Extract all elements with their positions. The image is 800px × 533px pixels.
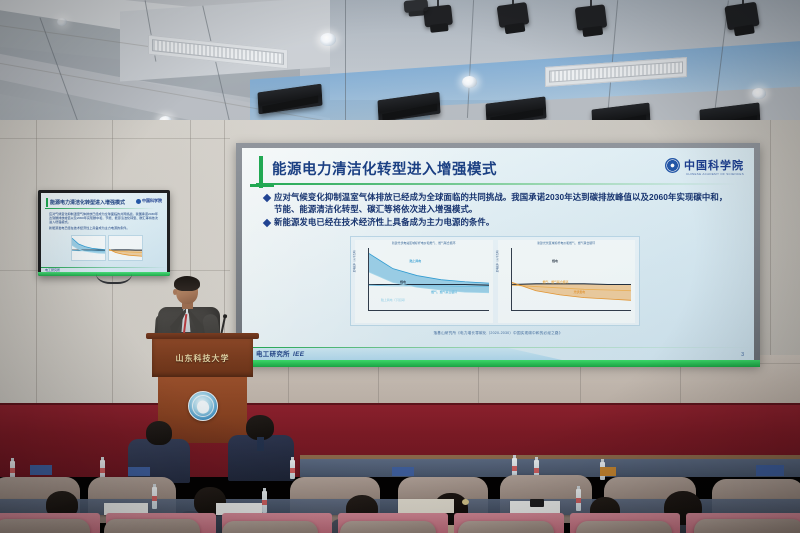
stage-light <box>724 2 759 31</box>
chair[interactable] <box>0 519 90 533</box>
chair[interactable] <box>458 521 554 533</box>
cas-logo-subtext: CHINESE ACADEMY OF SCIENCES <box>686 172 744 176</box>
bottle-label <box>534 468 539 473</box>
bullet-text: 新能源发电已经在技术经济性上具备成为主力电源的条件。 <box>274 217 494 229</box>
person-tie <box>257 437 264 451</box>
bullet-text: 应对气候变化抑制温室气体排放已经成为全球面临的共同挑战。我国承诺2030年达到碳… <box>274 192 734 216</box>
chart-title: 新建光伏电站区域标杆电价和燃气、燃气联合循环 <box>355 241 493 245</box>
stage-light <box>497 2 530 28</box>
chair[interactable] <box>576 521 672 533</box>
person-head <box>146 421 172 445</box>
folder <box>128 467 150 476</box>
folder <box>30 465 52 475</box>
folder <box>756 465 784 476</box>
bottle-label <box>10 468 15 473</box>
monitor-bullet: 新能源发电已经在技术经济性上具备成为主力电源的条件。 <box>49 226 161 230</box>
slide-source-line: 落基山研究所《电力增长零碳化（2020-2030）中国实现碳中和的必经之路》 <box>242 331 754 336</box>
audience-area <box>0 415 800 533</box>
phone <box>530 499 544 507</box>
bullet-diamond-icon <box>263 194 271 202</box>
bottle-label <box>512 466 517 471</box>
bullet-item: 应对气候变化抑制温室气体排放已经成为全球面临的共同挑战。我国承诺2030年达到碳… <box>264 192 734 216</box>
notepad <box>398 499 454 513</box>
slide-footer-org: 电工研究所 <box>256 351 290 358</box>
stage-light <box>404 0 429 13</box>
monitor-bullet: 应对气候变化抑制温室气体排放已经成为全球面临的共同挑战。我国承诺2030年达到碳… <box>49 212 161 225</box>
bottle-label <box>152 496 157 501</box>
stage-light <box>575 4 608 30</box>
water-bottle <box>152 487 157 509</box>
chart-series-label: 燃气、燃气联合循环 <box>543 280 569 284</box>
chart-wind-cost: 新建光伏电站区域标杆电价和燃气、燃气联合循环 度电成本（元/千瓦时） 0.90.… <box>355 240 493 323</box>
cas-logo-text: 中国科学院 <box>684 157 744 173</box>
bottle-label <box>290 468 295 473</box>
chart-series-label: 光伏发电 <box>574 290 586 294</box>
monitor-charts <box>71 235 143 261</box>
water-bottle <box>262 491 267 513</box>
podium-front: 山东科技大学 <box>152 339 253 377</box>
chart-panel: 新建光伏电站区域标杆电价和燃气、燃气联合循环 度电成本（元/千瓦时） 0.90.… <box>350 236 640 326</box>
slide-page-number: 3 <box>741 352 744 358</box>
downlight <box>462 76 477 88</box>
chart-title: 新建光伏区域标杆电价和燃气、燃气联合循环 <box>498 241 636 245</box>
chair[interactable] <box>694 519 800 533</box>
title-underline <box>256 183 736 185</box>
presenter-ear <box>173 289 177 295</box>
downlight <box>320 33 336 46</box>
monitor-title: 能源电力清洁化转型进入增强模式 <box>50 199 125 206</box>
desk-row-back <box>300 457 800 477</box>
monitor-chart-wind <box>71 235 106 261</box>
chart-series-label: 陆上风电（下区间） <box>381 298 407 302</box>
screen-green-bar <box>236 360 760 367</box>
folder <box>600 467 616 476</box>
chart-plot-area: 0.90.80.70.60.50.40.30.20.10202020222024… <box>511 248 632 311</box>
presenter-hair <box>174 276 200 291</box>
downlight <box>57 18 67 26</box>
slide-footer-abbr: IEE <box>293 351 305 358</box>
monitor-logo-text: 中国科学院 <box>142 198 162 204</box>
slide-title: 能源电力清洁化转型进入增强模式 <box>272 158 497 179</box>
audience-person <box>228 415 294 477</box>
bullet-diamond-icon <box>263 219 271 227</box>
cas-logo: 中国科学院 <box>665 157 744 173</box>
monitor-slide: 能源电力清洁化转型进入增强模式 中国科学院 应对气候变化抑制温室气体排放已经成为… <box>41 193 167 273</box>
bullet-item: 新能源发电已经在技术经济性上具备成为主力电源的条件。 <box>264 217 734 229</box>
chart-solar-cost: 新建光伏区域标杆电价和燃气、燃气联合循环 度电成本（元/千瓦时） 0.90.80… <box>498 240 636 323</box>
projection-screen[interactable]: 能源电力清洁化转型进入增强模式 中国科学院 CHINESE ACADEMY OF… <box>236 143 760 365</box>
monitor-rule <box>45 208 155 209</box>
bottle-label <box>576 498 581 503</box>
slide-bullets: 应对气候变化抑制温室气体排放已经成为全球面临的共同挑战。我国承诺2030年达到碳… <box>264 192 734 230</box>
water-bottle <box>576 489 581 511</box>
confidence-monitor[interactable]: 能源电力清洁化转型进入增强模式 中国科学院 应对气候变化抑制温室气体排放已经成为… <box>38 190 170 276</box>
chair[interactable] <box>104 519 200 533</box>
auditorium-scene: 能源电力清洁化转型进入增强模式 中国科学院 CHINESE ACADEMY OF… <box>0 0 800 533</box>
chart-ylabel: 度电成本（元/千瓦时） <box>352 248 356 272</box>
chart-plot-area: 0.90.80.70.60.50.40.30.20.10202020222024… <box>368 248 489 311</box>
monitor-accent-bar <box>46 198 48 207</box>
footer-rule <box>242 347 754 348</box>
chart-ylabel: 度电成本（元/千瓦时） <box>495 248 499 272</box>
bottle-label <box>262 500 267 505</box>
folder <box>392 467 414 476</box>
downlight <box>752 88 766 99</box>
monitor-chart-solar <box>108 235 143 261</box>
cas-emblem-icon <box>665 158 680 173</box>
slide-footer: 电工研究所IEE <box>256 349 304 358</box>
bottle-label <box>100 468 105 473</box>
chair[interactable] <box>222 521 318 533</box>
crest-ring <box>192 395 214 417</box>
chart-series-label: 陆上风电 <box>410 259 422 263</box>
desk-row-back-top <box>300 455 800 459</box>
cas-emblem-icon <box>136 199 141 204</box>
water-bottle <box>290 460 295 479</box>
chart-series-label: 煤电 <box>552 259 558 263</box>
chart-series-label: 燃气、燃气联合循环 <box>431 290 457 294</box>
hair-tie <box>462 499 469 505</box>
chart-series-label: 煤电 <box>400 280 406 284</box>
podium-university-name: 山东科技大学 <box>152 353 253 364</box>
chair[interactable] <box>340 521 436 533</box>
monitor-logo: 中国科学院 <box>136 198 163 204</box>
slide-content: 能源电力清洁化转型进入增强模式 中国科学院 CHINESE ACADEMY OF… <box>242 148 754 360</box>
